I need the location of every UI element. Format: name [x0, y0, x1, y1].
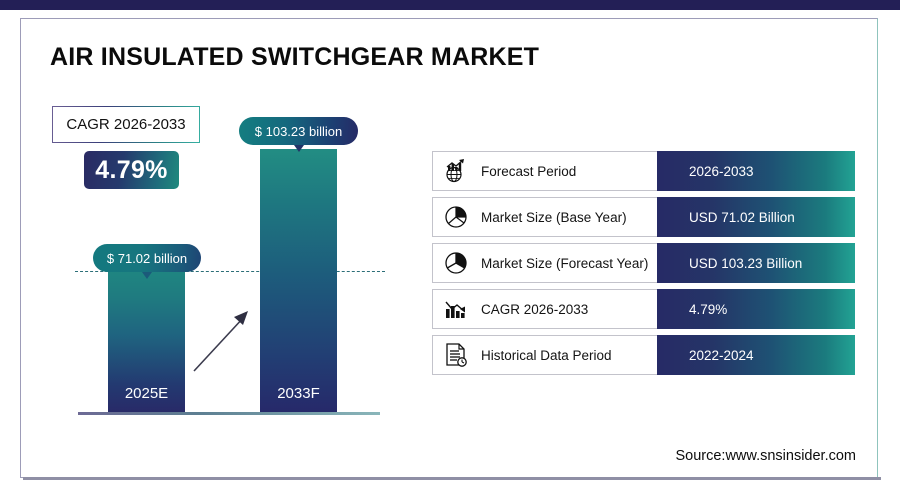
table-row: Historical Data Period 2022-2024 — [432, 335, 855, 375]
table-row-label: CAGR 2026-2033 — [481, 302, 588, 317]
table-row-label: Market Size (Forecast Year) — [481, 256, 648, 271]
table-row-value-cell: 2022-2024 — [657, 335, 855, 375]
table-row-label: Forecast Period — [481, 164, 576, 179]
table-row-value-cell: 2026-2033 — [657, 151, 855, 191]
table-row-value: USD 71.02 Billion — [689, 210, 795, 225]
top-navy-band — [0, 0, 900, 10]
value-callout-2033f-text: $ 103.23 billion — [255, 124, 342, 139]
table-row-label-cell: Market Size (Base Year) — [432, 197, 657, 237]
bar-2033f: 2033F — [260, 149, 337, 412]
table-row-value: 2026-2033 — [689, 164, 754, 179]
table-row: Market Size (Forecast Year) USD 103.23 B… — [432, 243, 855, 283]
pie-chart-thirds-icon — [443, 250, 469, 276]
bar-2025e: 2025E — [108, 272, 185, 412]
document-clock-icon — [443, 342, 469, 368]
table-row-value: 4.79% — [689, 302, 727, 317]
table-row-label-cell: Historical Data Period — [432, 335, 657, 375]
table-row-label-cell: Market Size (Forecast Year) — [432, 243, 657, 283]
table-row-value-cell: 4.79% — [657, 289, 855, 329]
growth-arrow-icon — [190, 305, 256, 375]
bar-label-2025e: 2025E — [108, 385, 185, 402]
table-row-label: Historical Data Period — [481, 348, 612, 363]
bar-chart-declining-line-icon — [443, 296, 469, 322]
table-row-value: USD 103.23 Billion — [689, 256, 802, 271]
table-row-label: Market Size (Base Year) — [481, 210, 627, 225]
market-summary-table: Forecast Period 2026-2033 M — [432, 151, 855, 375]
globe-growth-chart-icon — [443, 158, 469, 184]
pie-chart-icon — [443, 204, 469, 230]
value-callout-2025e-text: $ 71.02 billion — [107, 251, 187, 266]
page-title: AIR INSULATED SWITCHGEAR MARKET — [50, 43, 539, 72]
table-row-value-cell: USD 103.23 Billion — [657, 243, 855, 283]
source-attribution: Source:www.snsinsider.com — [675, 448, 856, 464]
chart-baseline-axis — [78, 412, 380, 415]
table-row: CAGR 2026-2033 4.79% — [432, 289, 855, 329]
bar-label-2033f: 2033F — [260, 385, 337, 402]
table-row: Forecast Period 2026-2033 — [432, 151, 855, 191]
table-row-value: 2022-2024 — [689, 348, 754, 363]
value-callout-2033f: $ 103.23 billion — [239, 117, 358, 145]
callout-pointer-2025e — [142, 272, 152, 279]
table-row-label-cell: Forecast Period — [432, 151, 657, 191]
value-callout-2025e: $ 71.02 billion — [93, 244, 201, 272]
table-row: Market Size (Base Year) USD 71.02 Billio… — [432, 197, 855, 237]
table-row-label-cell: CAGR 2026-2033 — [432, 289, 657, 329]
infographic-page: AIR INSULATED SWITCHGEAR MARKET CAGR 202… — [0, 0, 900, 500]
table-row-value-cell: USD 71.02 Billion — [657, 197, 855, 237]
callout-pointer-2033f — [294, 145, 304, 152]
